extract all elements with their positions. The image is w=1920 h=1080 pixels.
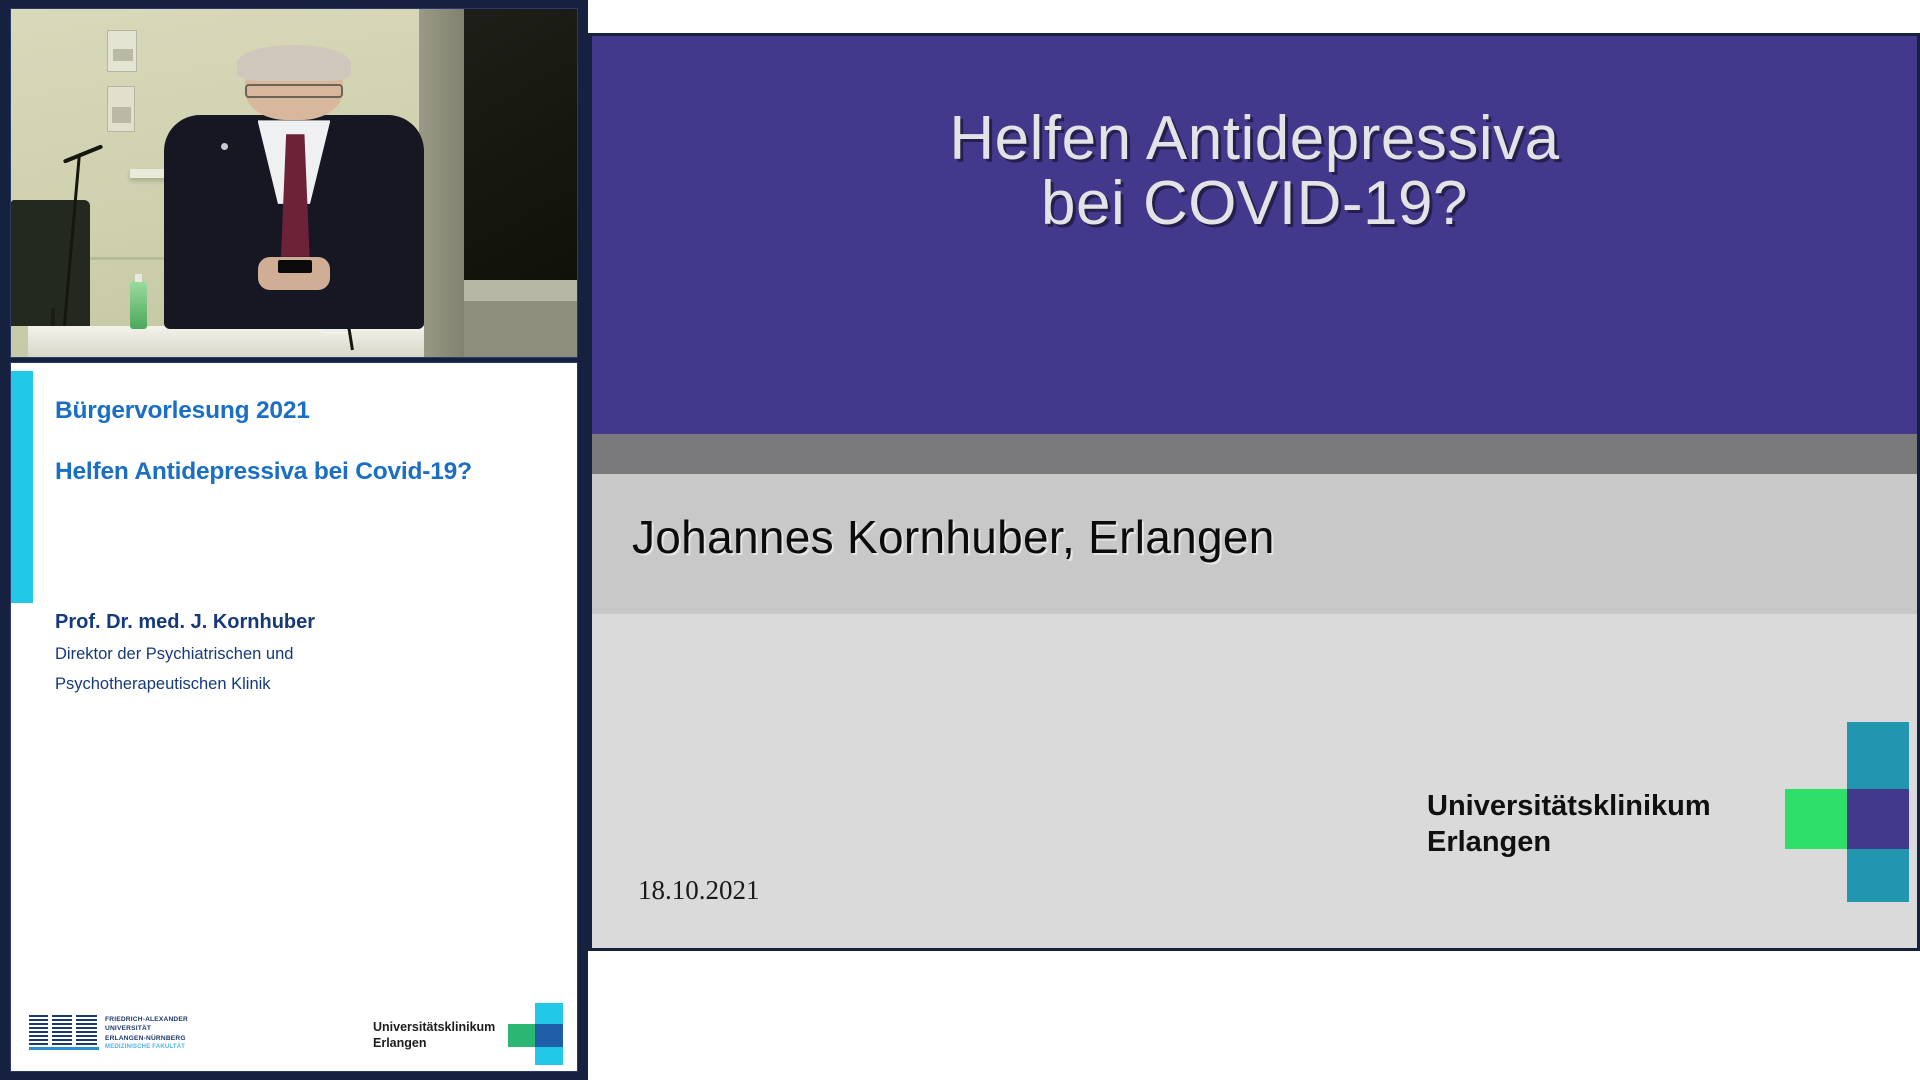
uk-erlangen-logo: Universitätsklinikum Erlangen bbox=[1409, 722, 1909, 902]
slide-speaker-band: Johannes Kornhuber, Erlangen bbox=[592, 474, 1917, 614]
fau-letter-f bbox=[29, 1015, 48, 1045]
screen-root: Bürgervorlesung 2021 Helfen Antidepressi… bbox=[0, 0, 1920, 1080]
uk-small-green-square bbox=[508, 1024, 535, 1047]
talk-title: Helfen Antidepressiva bei Covid-19? bbox=[55, 458, 555, 486]
series-title: Bürgervorlesung 2021 bbox=[55, 397, 555, 425]
slide-title-line-2: bei COVID-19? bbox=[592, 171, 1917, 236]
board-ledge bbox=[464, 280, 577, 301]
slide-title-line-1: Helfen Antidepressiva bbox=[592, 106, 1917, 171]
slide-title: Helfen Antidepressiva bei COVID-19? bbox=[592, 106, 1917, 236]
speaker-video-tile[interactable] bbox=[10, 8, 578, 358]
glasses-icon bbox=[245, 84, 344, 98]
door-column bbox=[419, 9, 464, 357]
presentation-slide[interactable]: Helfen Antidepressiva bei COVID-19? Joha… bbox=[588, 33, 1920, 951]
fau-underline bbox=[29, 1047, 99, 1050]
fau-wordmark-icon bbox=[29, 1015, 99, 1045]
chalkboard bbox=[464, 9, 577, 280]
water-bottle bbox=[130, 281, 147, 329]
handheld-device bbox=[278, 260, 312, 274]
wall-switch-lower-icon bbox=[107, 86, 135, 132]
board-lower-wall bbox=[464, 301, 577, 357]
uk-small-blue-square bbox=[535, 1024, 563, 1047]
fau-logo: FRIEDRICH-ALEXANDER UNIVERSITÄT ERLANGEN… bbox=[29, 1011, 229, 1059]
slide-speaker-name: Johannes Kornhuber, Erlangen bbox=[632, 510, 1275, 564]
fau-letter-a bbox=[52, 1015, 72, 1045]
cyan-accent-bar bbox=[11, 371, 33, 603]
fau-name-line-2: UNIVERSITÄT bbox=[105, 1024, 188, 1033]
left-column: Bürgervorlesung 2021 Helfen Antidepressi… bbox=[0, 0, 580, 1080]
uk-erlangen-small-mark-icon bbox=[505, 1003, 563, 1065]
uk-small-line-1: Universitätsklinikum bbox=[373, 1019, 495, 1035]
speaker-role-line-2: Psychotherapeutischen Klinik bbox=[55, 675, 555, 694]
slide-date: 18.10.2021 bbox=[638, 875, 760, 906]
fau-university-name: FRIEDRICH-ALEXANDER UNIVERSITÄT ERLANGEN… bbox=[105, 1015, 188, 1043]
uk-line-2: Erlangen bbox=[1427, 824, 1711, 860]
slide-title-panel: Helfen Antidepressiva bei COVID-19? bbox=[592, 36, 1917, 434]
speaker-name: Prof. Dr. med. J. Kornhuber bbox=[55, 611, 555, 634]
uk-purple-square bbox=[1847, 789, 1909, 849]
uk-green-square bbox=[1785, 789, 1847, 849]
intro-slide-card[interactable]: Bürgervorlesung 2021 Helfen Antidepressi… bbox=[10, 362, 578, 1072]
slide-divider-band bbox=[592, 434, 1917, 474]
lapel-pin-icon bbox=[221, 143, 228, 150]
chair bbox=[11, 200, 90, 325]
presenter-hair bbox=[237, 45, 352, 81]
uk-small-line-2: Erlangen bbox=[373, 1035, 495, 1051]
uk-erlangen-mark-icon bbox=[1749, 722, 1909, 902]
uk-line-1: Universitätsklinikum bbox=[1427, 788, 1711, 824]
speaker-role-line-1: Direktor der Psychiatrischen und bbox=[55, 645, 555, 664]
lecture-desk bbox=[28, 326, 424, 357]
uk-erlangen-small-text: Universitätsklinikum Erlangen bbox=[373, 1019, 495, 1051]
fau-name-line-3: ERLANGEN-NÜRNBERG bbox=[105, 1034, 188, 1043]
wall-switch-upper-icon bbox=[107, 30, 137, 72]
uk-erlangen-logo-small: Universitätsklinikum Erlangen bbox=[373, 1003, 563, 1065]
speaker-info-block: Prof. Dr. med. J. Kornhuber Direktor der… bbox=[55, 611, 555, 694]
uk-erlangen-text: Universitätsklinikum Erlangen bbox=[1427, 788, 1711, 861]
fau-faculty-line: MEDIZINISCHE FAKULTÄT bbox=[105, 1044, 185, 1050]
intro-card-heading: Bürgervorlesung 2021 Helfen Antidepressi… bbox=[55, 397, 555, 486]
intro-card-footer: FRIEDRICH-ALEXANDER UNIVERSITÄT ERLANGEN… bbox=[11, 991, 577, 1071]
fau-letter-u bbox=[76, 1015, 97, 1045]
presentation-pane: Helfen Antidepressiva bei COVID-19? Joha… bbox=[588, 0, 1920, 1080]
fau-name-line-1: FRIEDRICH-ALEXANDER bbox=[105, 1015, 188, 1024]
presenter-figure bbox=[164, 51, 424, 329]
